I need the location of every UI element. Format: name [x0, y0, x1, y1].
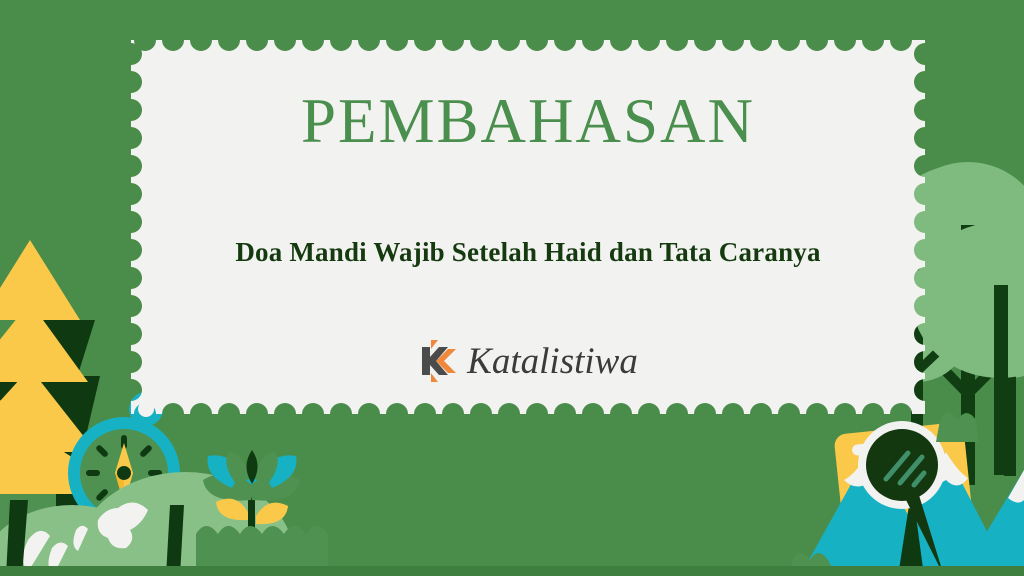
slide-subtitle: Doa Mandi Wajib Setelah Haid dan Tata Ca…	[208, 232, 848, 274]
subtitle-container: Doa Mandi Wajib Setelah Haid dan Tata Ca…	[208, 232, 848, 274]
page-title: PEMBAHASAN	[301, 88, 755, 154]
slide-canvas: PEMBAHASAN Doa Mandi Wajib Setelah Haid …	[0, 0, 1024, 576]
brand-logo: Katalistiwa	[131, 340, 925, 382]
katalistiwa-k-chevron-logo-icon	[418, 340, 458, 382]
content-card: PEMBAHASAN Doa Mandi Wajib Setelah Haid …	[131, 40, 925, 414]
brand-name: Katalistiwa	[467, 343, 638, 380]
